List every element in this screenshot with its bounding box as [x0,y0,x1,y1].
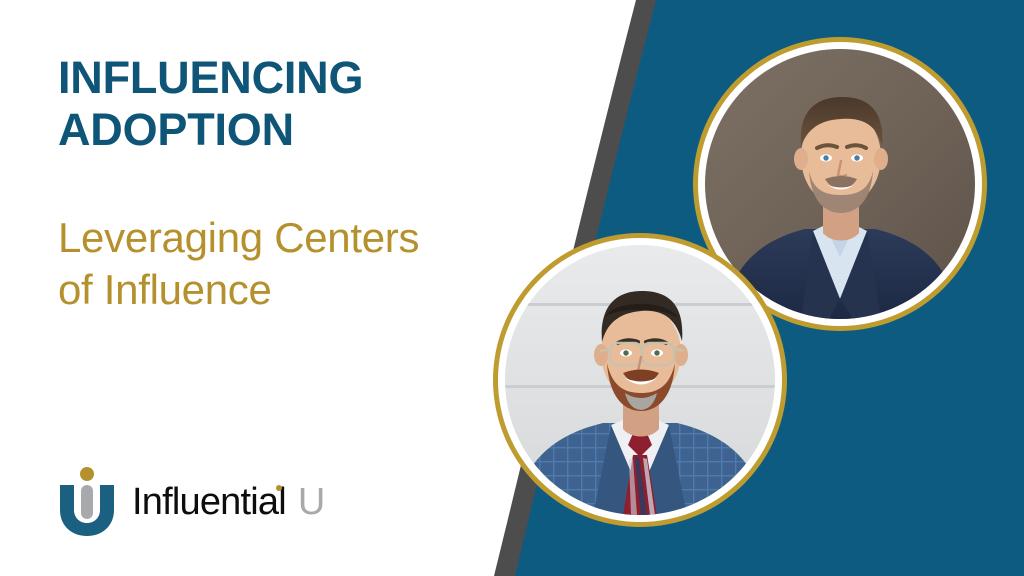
presentation-slide: INFLUENCING ADOPTION Leveraging Centers … [0,0,1024,576]
influential-u-logomark [56,466,118,538]
brand-logo: Influential U [56,466,325,538]
title-group: INFLUENCING ADOPTION Leveraging Centers … [58,52,578,315]
logomark-gold-dot [80,467,94,481]
page-title: INFLUENCING ADOPTION [58,52,578,156]
page-subtitle: Leveraging Centers of Influence [58,156,578,314]
logo-wordmark: Influential U [132,483,325,521]
logo-wordmark-suffix: U [298,483,325,521]
logo-wordmark-main-text: Influential [132,481,286,523]
logomark-gray-bar [81,485,93,519]
logo-wordmark-main: Influential [132,483,286,521]
logo-i-dot [276,485,282,491]
